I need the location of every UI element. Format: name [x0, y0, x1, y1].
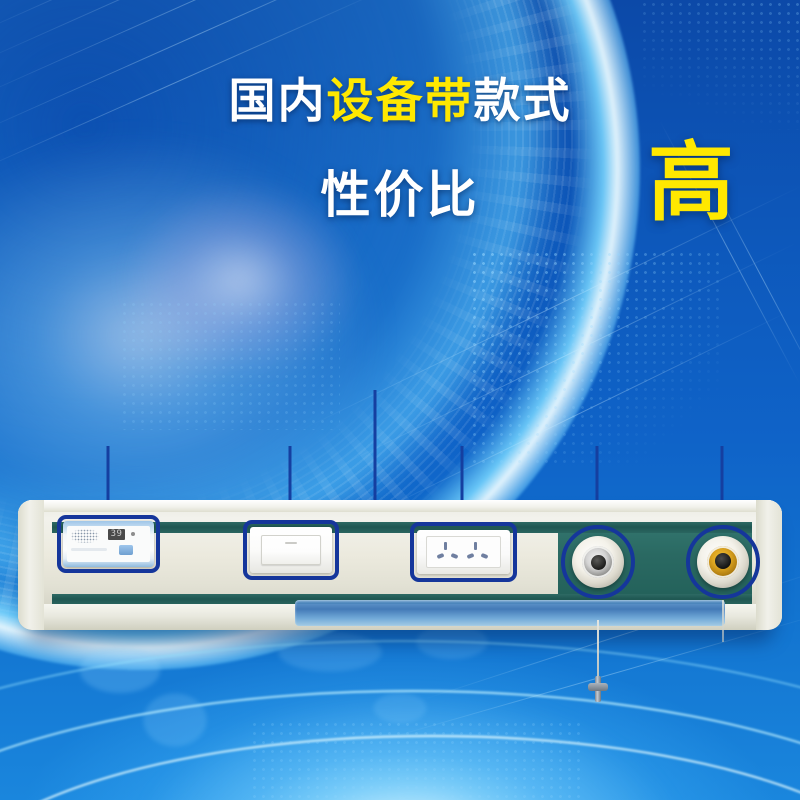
- panel-blue-handrail: [295, 600, 725, 626]
- headline-part-2: 设备带: [327, 74, 474, 129]
- highlight-box-power-switch: [243, 520, 339, 580]
- cord-connector: [588, 676, 608, 702]
- highlight-box-intercom: [57, 515, 160, 573]
- promo-banner: 国内设备带款式 性价比 高 呼叫对讲机分机电源开关床头灯电源插座氧气终端吸引终端…: [0, 0, 800, 800]
- light-ray: [0, 0, 545, 71]
- panel-end-cap-right: [756, 500, 782, 630]
- suction-hanging-cord: [722, 600, 724, 642]
- oxygen-hanging-cord: [597, 620, 599, 682]
- headline-emphasis-gao: 高: [648, 140, 734, 226]
- highlight-circle-oxygen: [561, 525, 635, 599]
- headline-part-3: 款式: [474, 74, 572, 129]
- panel-end-cap-left: [18, 500, 44, 630]
- halftone-dots-left: [120, 300, 340, 430]
- highlight-circle-suction: [686, 525, 760, 599]
- headline-line-1: 国内设备带款式: [0, 78, 800, 125]
- panel-top-edge: [18, 500, 782, 512]
- connector-crossbar: [588, 683, 608, 691]
- headline-part-1: 国内: [229, 74, 327, 129]
- halftone-dots-center: [470, 250, 720, 465]
- highlight-box-power-socket: [410, 522, 517, 582]
- halftone-dots-bottom: [250, 720, 580, 800]
